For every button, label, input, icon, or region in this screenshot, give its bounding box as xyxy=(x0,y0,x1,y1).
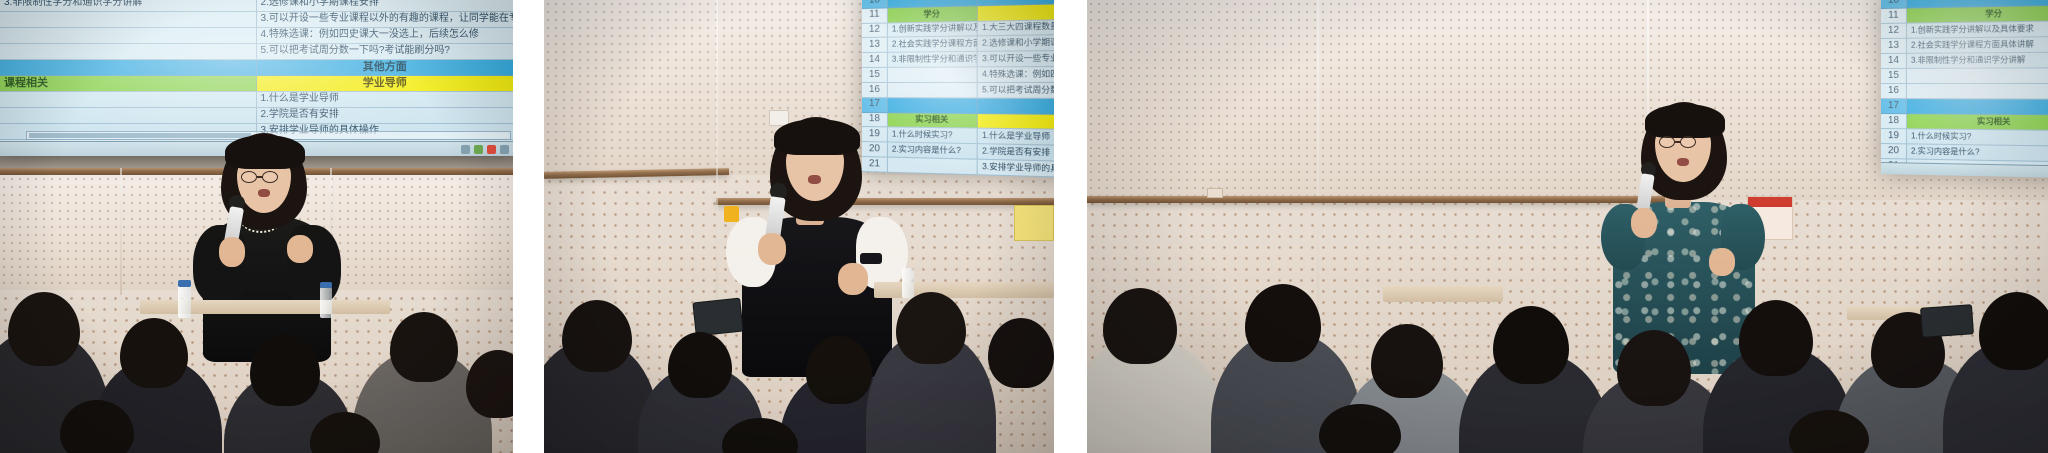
row-number: 13 xyxy=(1881,39,1907,53)
photo-panel-3: 10 11 学分 12 1.创新实践学分讲解以及具体要求 13 xyxy=(1087,0,2048,453)
ime-icon[interactable] xyxy=(500,145,509,154)
table-row: 3.可以开设一些专业课程以外的有趣的课程，让同学能在专业课之余得到放松 xyxy=(0,12,513,28)
table-row: 1.什么是学业导师 xyxy=(0,92,513,108)
speaker-mouth xyxy=(808,175,821,184)
cell-credits-2: 2.社会实践学分课程方面具体讲解 xyxy=(1907,37,2048,53)
audience-head xyxy=(1979,292,2048,370)
cell-header-course-related: 课程相关 xyxy=(0,76,257,91)
row-number: 10 xyxy=(1881,0,1907,8)
cell-course-right: 2.选修课和小学期课程安排 xyxy=(257,0,514,11)
bottle-cap xyxy=(178,280,191,287)
row-number: 15 xyxy=(862,68,888,82)
table-row: 5.可以把考试周分数一下吗?考试能刷分吗? xyxy=(0,44,513,60)
speaker-fringe xyxy=(225,135,305,169)
cell-header-credits: 学分 xyxy=(888,6,978,22)
audience-head xyxy=(988,318,1054,388)
cell-course-item-5: 5.可以把考试周分数一下吗?考试能刷分吗? xyxy=(257,44,514,59)
speaker-hand-left xyxy=(758,233,786,265)
audience-head xyxy=(896,292,966,364)
cell-empty xyxy=(888,83,978,97)
audience-head xyxy=(250,334,320,406)
cell-advisor-3: 3.安排学业导师的具体操作 xyxy=(978,160,1054,177)
cell-empty xyxy=(0,92,257,107)
table-row: 13 2.社会实践学分课程方面具体讲解 2.选修课和小学期课程安排 xyxy=(862,36,1054,54)
cell-empty xyxy=(0,28,257,43)
speaker-hand-right xyxy=(1709,248,1735,276)
row-number: 18 xyxy=(1881,114,1907,128)
cell-course-item-4: 4.特殊选课：例如四史课大一没选上，后续怎么修 xyxy=(257,28,514,43)
spreadsheet-grid: 10 11 学分 12 1.创新实践学分讲解以及具体要求 13 xyxy=(1881,0,2048,178)
speaker-figure xyxy=(720,105,910,355)
wall-switch xyxy=(1207,188,1223,198)
cell-yellow xyxy=(978,4,1054,21)
cell-course-item-3: 3.可以开设一些专业课程以外的有趣的课程，让同学能在专业课之余得到放松 xyxy=(257,12,514,27)
audience-head xyxy=(1493,306,1569,384)
table-row: 14 3.非限制性学分和通识学分讲解 3.可以开设一些专业课程以外的有趣的课程，… xyxy=(862,51,1054,68)
table-row: 14 3.非限制性学分和通识学分讲解 xyxy=(1881,53,2048,69)
speaker-mouth xyxy=(1677,158,1689,166)
row-number: 17 xyxy=(1881,99,1907,113)
cell-credits-1: 1.创新实践学分讲解以及具体要求 xyxy=(888,21,978,37)
cell-header-internship: 实习相关 xyxy=(1907,114,2048,130)
audience-head xyxy=(390,312,458,382)
speaker-hand-right xyxy=(838,263,868,295)
cell-blue-left xyxy=(0,60,257,75)
cell-header-other: 其他方面 xyxy=(257,60,514,75)
audience-head xyxy=(1739,300,1813,376)
audience-head xyxy=(120,318,188,388)
row-number: 11 xyxy=(1881,9,1907,23)
cell-internship-1: 1.什么时候实习? xyxy=(1907,129,2048,146)
cell-credits-3: 3.非限制性学分和通识学分讲解 xyxy=(888,52,978,67)
photo-panel-2: 10 11 学分 12 1.创新实践学分讲解以及具体要求 1.大三 xyxy=(544,0,1054,453)
table-row: 12 1.创新实践学分讲解以及具体要求 xyxy=(1881,21,2048,39)
wristwatch xyxy=(860,253,882,264)
water-bottle xyxy=(902,268,914,298)
projection-screen: 10 11 学分 12 1.创新实践学分讲解以及具体要求 13 xyxy=(1881,0,2048,178)
lecture-room-2: 10 11 学分 12 1.创新实践学分讲解以及具体要求 1.大三 xyxy=(544,0,1054,453)
cell-empty xyxy=(888,68,978,82)
cell-course-2: 2.选修课和小学期课程安排 xyxy=(978,36,1054,52)
audience-head xyxy=(806,336,872,404)
wall-poster xyxy=(1014,205,1054,241)
wall-seam xyxy=(120,150,122,295)
cell-yellow xyxy=(978,114,1054,130)
speaker-hand-right xyxy=(287,235,313,263)
speaker-fringe xyxy=(774,119,860,155)
row-number: 20 xyxy=(1881,144,1907,158)
cell-credits-3: 3.非限制性学分和通识学分讲解 xyxy=(1907,53,2048,68)
table-row: 13 2.社会实践学分课程方面具体讲解 xyxy=(1881,37,2048,54)
audience-head xyxy=(1103,288,1177,364)
spreadsheet-slide: 10 11 学分 12 1.创新实践学分讲解以及具体要求 13 xyxy=(1881,0,2048,178)
photo-panel-1: 3.非限制性学分和通识学分讲解 2.选修课和小学期课程安排 3.可以开设一些专业… xyxy=(0,0,513,453)
row-number: 16 xyxy=(862,83,888,97)
audience-head xyxy=(1617,330,1691,406)
cell-course-3: 3.可以开设一些专业课程以外的有趣的课程，让同学能在专业课之余得到放松 xyxy=(978,51,1054,66)
cell-advisor-2: 2.学院是否有安排 xyxy=(978,144,1054,161)
desk xyxy=(1383,286,1503,302)
cell-credits-1: 1.创新实践学分讲解以及具体要求 xyxy=(1907,21,2048,38)
cell-header-credits: 学分 xyxy=(1907,5,2048,22)
water-bottle xyxy=(320,286,332,318)
audience-head xyxy=(668,332,732,398)
cell-course-1: 1.大三大四课程数量分布以及内容 xyxy=(978,20,1054,36)
tablet-device xyxy=(1920,304,1974,338)
speaker-mouth xyxy=(258,189,270,197)
row-number: 14 xyxy=(862,53,888,67)
table-row: 16 xyxy=(1881,84,2048,100)
table-row: 15 4.特殊选课：例如四史课大一没选上，后续怎么修 xyxy=(862,67,1054,83)
cell-empty xyxy=(0,44,257,59)
speaker-figure xyxy=(1597,92,1767,362)
cell-empty xyxy=(1907,84,2048,99)
row-number: 10 xyxy=(862,0,888,8)
cell-advisor-1: 1.什么是学业导师 xyxy=(257,92,514,107)
row-number: 13 xyxy=(862,38,888,52)
bottle-cap xyxy=(320,282,332,288)
cell-course-5: 5.可以把考试周分数一下吗?考试能刷分吗? xyxy=(978,83,1054,98)
cell-credits-2: 2.社会实践学分课程方面具体讲解 xyxy=(888,37,978,52)
cell-empty xyxy=(0,108,257,123)
audience-head xyxy=(1245,284,1321,362)
table-row-header-green-yellow: 课程相关 学业导师 xyxy=(0,76,513,92)
cell-course-4: 4.特殊选课：例如四史课大一没选上，后续怎么修 xyxy=(978,67,1054,82)
audience-head xyxy=(562,300,632,372)
table-row: 4.特殊选课：例如四史课大一没选上，后续怎么修 xyxy=(0,28,513,44)
table-row: 16 5.可以把考试周分数一下吗?考试能刷分吗? xyxy=(862,83,1054,99)
cell-empty xyxy=(0,12,257,27)
row-number: 11 xyxy=(862,8,888,22)
row-number: 12 xyxy=(862,23,888,37)
cell-advisor-1: 1.什么是学业导师 xyxy=(978,129,1054,145)
table-row: 3.非限制性学分和通识学分讲解 2.选修课和小学期课程安排 xyxy=(0,0,513,12)
cell-header-advisor: 学业导师 xyxy=(257,76,514,91)
row-number: 15 xyxy=(1881,69,1907,83)
desk xyxy=(874,282,1054,298)
lecture-room-3: 10 11 学分 12 1.创新实践学分讲解以及具体要求 13 xyxy=(1087,0,2048,453)
row-number: 19 xyxy=(1881,129,1907,143)
volume-icon[interactable] xyxy=(474,145,483,154)
table-row: 2.学院是否有安排 xyxy=(0,108,513,124)
row-number: 12 xyxy=(1881,24,1907,38)
speaker-figure xyxy=(175,125,355,355)
tablet-device xyxy=(692,298,743,337)
cell-course-left: 3.非限制性学分和通识学分讲解 xyxy=(0,0,257,11)
water-bottle xyxy=(178,284,191,318)
speaker-hand-left xyxy=(219,237,245,267)
audience-head xyxy=(8,292,80,366)
table-row: 15 xyxy=(1881,68,2048,84)
row-number: 14 xyxy=(1881,54,1907,68)
audience-head xyxy=(1371,324,1443,398)
cell-blue xyxy=(978,98,1054,113)
photo-collage: 3.非限制性学分和通识学分讲解 2.选修课和小学期课程安排 3.可以开设一些专业… xyxy=(0,0,2048,453)
sogou-icon[interactable] xyxy=(487,145,496,154)
cell-empty xyxy=(1907,68,2048,83)
cell-advisor-2: 2.学院是否有安排 xyxy=(257,108,514,123)
table-row-header-other: 其他方面 xyxy=(0,60,513,76)
speaker-fringe xyxy=(1645,104,1725,138)
row-number: 16 xyxy=(1881,84,1907,98)
tray-icon[interactable] xyxy=(461,145,470,154)
cell-blue xyxy=(1907,99,2048,114)
lecture-room-1: 3.非限制性学分和通识学分讲解 2.选修课和小学期课程安排 3.可以开设一些专业… xyxy=(0,0,513,453)
speaker-hand-left xyxy=(1631,208,1657,238)
table-row: 17 xyxy=(1881,99,2048,115)
